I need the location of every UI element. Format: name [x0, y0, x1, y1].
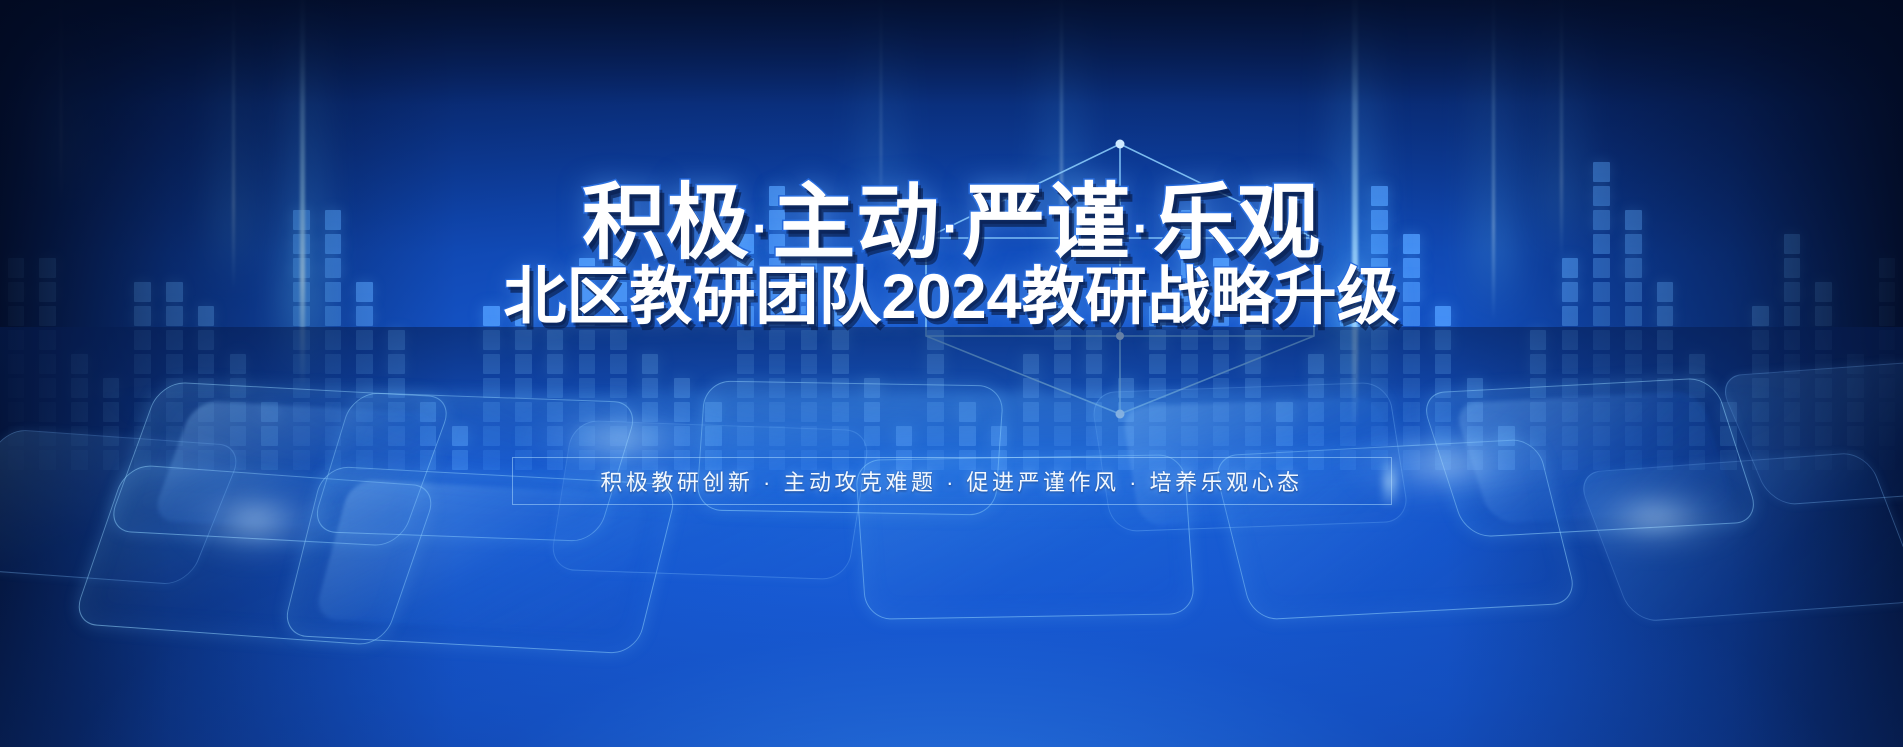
- headline-word-4: 乐观: [1153, 176, 1321, 269]
- headline-word-1: 积极: [582, 176, 750, 269]
- headline-separator: ·: [1133, 200, 1151, 258]
- banner-subtitle: 北区教研团队2024教研战略升级: [0, 266, 1903, 329]
- tagline-frame: 积极教研创新 · 主动攻克难题 · 促进严谨作风 · 培养乐观心态: [512, 457, 1392, 505]
- tagline-edge-glow: [1383, 456, 1397, 508]
- promotional-banner: 积极·主动·严谨·乐观 北区教研团队2024教研战略升级 积极教研创新 · 主动…: [0, 0, 1903, 747]
- headline-separator: ·: [942, 200, 960, 258]
- banner-content: 积极·主动·严谨·乐观 北区教研团队2024教研战略升级 积极教研创新 · 主动…: [0, 0, 1903, 747]
- headline-separator: ·: [752, 200, 770, 258]
- headline-word-3: 严谨: [963, 176, 1131, 269]
- banner-headline: 积极·主动·严谨·乐观: [0, 181, 1903, 264]
- tagline-text: 积极教研创新 · 主动攻克难题 · 促进严谨作风 · 培养乐观心态: [600, 465, 1302, 497]
- headline-word-2: 主动: [772, 176, 940, 269]
